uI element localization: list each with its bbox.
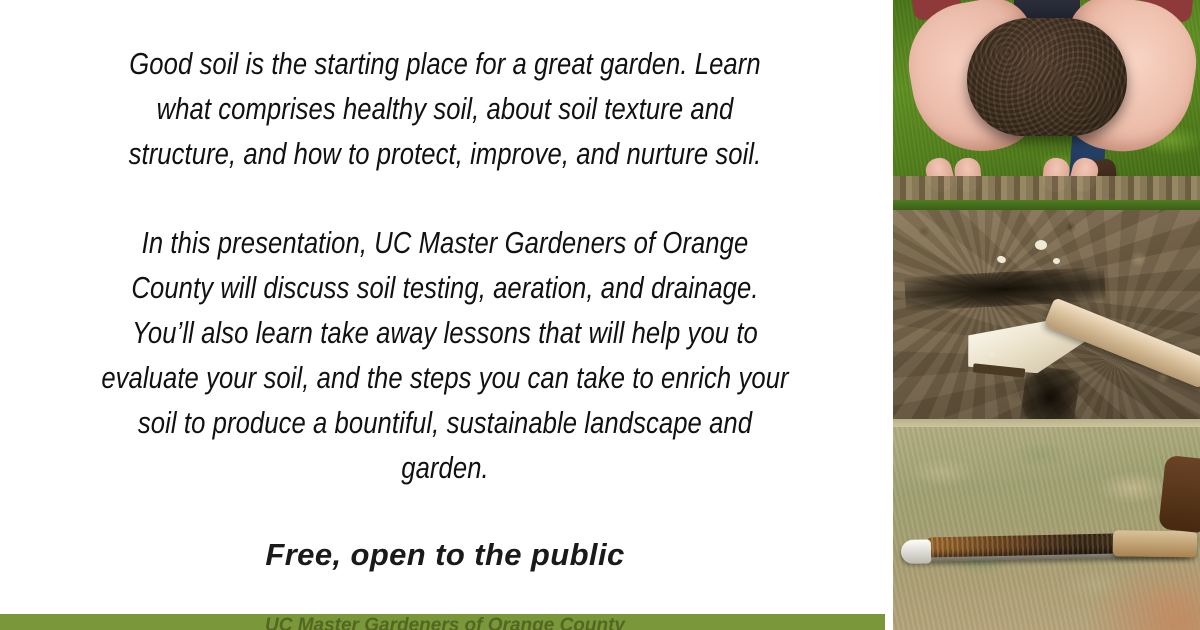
dark-soil-patch	[1019, 365, 1081, 427]
soil-probe	[901, 530, 1194, 566]
grass-edge	[893, 200, 1200, 210]
soil-strip	[893, 176, 1200, 200]
pebble	[1035, 240, 1047, 250]
photo-hands-holding-soil	[893, 0, 1200, 200]
footer-band-label: UC Master Gardeners of Orange County	[0, 616, 890, 630]
pebble	[989, 352, 995, 357]
probe-handle	[1113, 530, 1197, 557]
free-admission-line: Free, open to the public	[34, 535, 856, 575]
text-column: Good soil is the starting place for a gr…	[0, 0, 890, 614]
footer-green-band: UC Master Gardeners of Orange County	[0, 614, 890, 630]
description-paragraph-2: In this presentation, UC Master Gardener…	[100, 221, 790, 491]
person-boot	[1158, 455, 1200, 533]
pebble	[1053, 258, 1060, 264]
photo-trowel-in-soil	[893, 200, 1200, 427]
lower-edge	[893, 419, 1200, 427]
photo-soil-core-sampler	[893, 427, 1200, 630]
soil-core-sample	[927, 533, 1127, 557]
description-paragraph-1: Good soil is the starting place for a gr…	[100, 42, 790, 177]
flyer-root: Soil: The Foundation of Your Garden Good…	[0, 0, 1200, 630]
bare-earth-patch	[1090, 560, 1200, 630]
photo-column	[893, 0, 1200, 630]
soil-mound	[967, 18, 1127, 136]
probe-tip	[901, 539, 931, 564]
